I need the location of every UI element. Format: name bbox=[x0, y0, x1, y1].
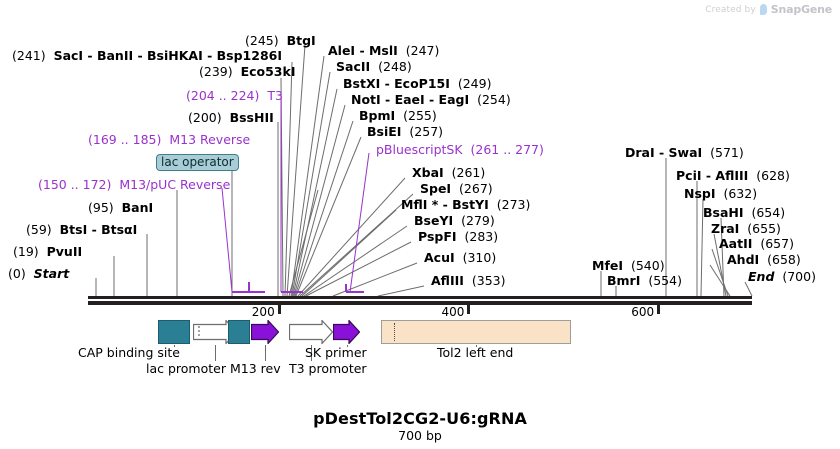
annotation-label[interactable]: BsaHI (654) bbox=[703, 206, 785, 219]
annotation-position: (0) bbox=[8, 266, 26, 281]
annotation-enzymes: BmrI bbox=[607, 273, 640, 288]
annotation-position: (59) bbox=[26, 222, 52, 237]
annotation-label[interactable]: PciI - AflIII (628) bbox=[676, 169, 790, 182]
annotation-enzymes: PspFI bbox=[418, 229, 457, 244]
ruler-tick bbox=[278, 305, 281, 314]
annotation-position: (283) bbox=[464, 229, 498, 244]
annotation-label[interactable]: BstXI - EcoP15I (249) bbox=[343, 77, 491, 90]
annotation-label[interactable]: pBluescriptSK (261 .. 277) bbox=[376, 143, 544, 156]
annotation-enzymes: AleI - MslI bbox=[328, 43, 398, 58]
annotation-position: (241) bbox=[12, 48, 46, 63]
annotation-enzymes: MflI * - BstYI bbox=[401, 197, 489, 212]
annotation-enzymes: pBluescriptSK bbox=[376, 142, 463, 157]
ruler-tick bbox=[657, 305, 660, 314]
annotation-position: (554) bbox=[648, 273, 682, 288]
annotation-enzymes: End bbox=[748, 269, 774, 284]
annotation-position: (273) bbox=[497, 197, 531, 212]
annotation-enzymes: AatII bbox=[719, 236, 752, 251]
feature-label: SK primer bbox=[305, 345, 367, 360]
annotation-label[interactable]: MflI * - BstYI (273) bbox=[401, 198, 530, 211]
annotation-label[interactable]: MfeI (540) bbox=[592, 259, 665, 272]
annotation-enzymes: Eco53kI bbox=[241, 64, 296, 79]
annotation-enzymes: BtgI bbox=[287, 33, 316, 48]
annotation-position: (267) bbox=[459, 181, 493, 196]
page-title: pDestTol2CG2-U6:gRNA bbox=[0, 409, 840, 428]
feature-leader-stem bbox=[347, 345, 348, 347]
annotation-enzymes: AflIII bbox=[431, 273, 464, 288]
annotation-enzymes: BsaHI bbox=[703, 205, 744, 220]
feature-leader-stem bbox=[265, 345, 266, 361]
annotation-label[interactable]: AflIII (353) bbox=[431, 274, 505, 287]
annotation-position: (200) bbox=[188, 110, 222, 125]
annotation-position: (204 .. 224) bbox=[186, 88, 259, 103]
annotation-enzymes: AhdI bbox=[727, 252, 759, 267]
annotation-enzymes: BsiEI bbox=[367, 124, 401, 139]
annotation-position: (632) bbox=[723, 186, 757, 201]
feature-leader-stem bbox=[174, 345, 175, 347]
feature-tol2-left-end[interactable] bbox=[381, 320, 571, 344]
annotation-label[interactable]: AcuI (310) bbox=[424, 251, 496, 264]
annotation-position: (279) bbox=[461, 213, 495, 228]
annotation-label[interactable]: (245) BtgI bbox=[245, 34, 316, 47]
annotation-enzymes: NotI - EaeI - EagI bbox=[351, 92, 469, 107]
feature-t3-promoter[interactable] bbox=[289, 320, 333, 344]
annotation-label[interactable]: (95) BanI bbox=[88, 201, 153, 214]
annotation-enzymes: Start bbox=[34, 266, 70, 281]
annotation-position: (353) bbox=[472, 273, 506, 288]
annotation-enzymes: ZraI bbox=[711, 221, 739, 236]
annotation-enzymes: PciI - AflIII bbox=[676, 168, 748, 183]
annotation-position: (150 .. 172) bbox=[38, 177, 111, 192]
annotation-enzymes: SpeI bbox=[420, 181, 451, 196]
annotation-position: (658) bbox=[767, 252, 801, 267]
watermark-brand: SnapGene bbox=[771, 3, 832, 16]
annotation-label[interactable]: DraI - SwaI (571) bbox=[625, 146, 744, 159]
annotation-enzymes: AcuI bbox=[424, 250, 455, 265]
annotation-enzymes: BpmI bbox=[359, 108, 395, 123]
annotation-enzymes: lac operator bbox=[161, 155, 234, 169]
annotation-label[interactable]: (241) SacI - BanII - BsiHKAI - Bsp1286I bbox=[12, 49, 282, 62]
annotation-label[interactable]: End (700) bbox=[748, 270, 816, 283]
annotation-label[interactable]: NspI (632) bbox=[684, 187, 757, 200]
annotation-enzymes: SacII bbox=[336, 59, 370, 74]
annotation-position: (310) bbox=[463, 250, 497, 265]
snapgene-watermark: Created by SnapGene bbox=[705, 3, 832, 16]
annotation-position: (261 .. 277) bbox=[471, 142, 544, 157]
annotation-enzymes: BseYI bbox=[414, 213, 453, 228]
annotation-label[interactable]: (239) Eco53kI bbox=[199, 65, 295, 78]
annotation-position: (239) bbox=[199, 64, 233, 79]
annotation-label[interactable]: BseYI (279) bbox=[414, 214, 495, 227]
annotation-enzymes: NspI bbox=[684, 186, 716, 201]
annotation-position: (254) bbox=[477, 92, 511, 107]
annotation-label[interactable]: XbaI (261) bbox=[412, 166, 485, 179]
plasmid-map: Created by SnapGene bbox=[0, 0, 840, 449]
annotation-label[interactable]: (59) BtsI - BtsαI bbox=[26, 223, 137, 236]
annotation-label[interactable]: AleI - MslI (247) bbox=[328, 44, 439, 57]
annotation-label[interactable]: lac operator bbox=[156, 154, 239, 171]
annotation-position: (19) bbox=[13, 244, 39, 259]
annotation-label[interactable]: PspFI (283) bbox=[418, 230, 498, 243]
annotation-label[interactable]: (204 .. 224) T3 bbox=[186, 89, 283, 102]
feature-cap-binding-site[interactable] bbox=[158, 320, 190, 344]
feature-lac-operator[interactable] bbox=[228, 320, 250, 344]
annotation-label[interactable]: BmrI (554) bbox=[607, 274, 682, 287]
annotation-position: (700) bbox=[782, 269, 816, 284]
annotation-enzymes: DraI - SwaI bbox=[625, 145, 702, 160]
annotation-enzymes: BstXI - EcoP15I bbox=[343, 76, 450, 91]
sequence-length: 700 bp bbox=[0, 428, 840, 443]
annotation-position: (95) bbox=[88, 200, 114, 215]
annotation-enzymes: BanI bbox=[122, 200, 154, 215]
feature-sk-primer[interactable] bbox=[333, 320, 360, 344]
feature-m13-rev[interactable] bbox=[251, 320, 279, 344]
feature-label: CAP binding site bbox=[78, 345, 180, 360]
ruler-tick-label: 400 bbox=[442, 305, 467, 319]
annotation-position: (261) bbox=[452, 165, 486, 180]
annotation-enzymes: M13/pUC Reverse bbox=[119, 177, 230, 192]
annotation-position: (540) bbox=[631, 258, 665, 273]
annotation-enzymes: PvuII bbox=[47, 244, 83, 259]
ruler-tick-label: 600 bbox=[631, 305, 656, 319]
feature-label: M13 rev bbox=[230, 361, 281, 376]
annotation-position: (628) bbox=[756, 168, 790, 183]
annotation-label[interactable]: (200) BssHII bbox=[188, 111, 274, 124]
annotation-label[interactable]: BpmI (255) bbox=[359, 109, 437, 122]
annotation-position: (655) bbox=[747, 221, 781, 236]
dna-backbone-upper bbox=[88, 296, 752, 299]
annotation-label[interactable]: AhdI (658) bbox=[727, 253, 801, 266]
annotation-position: (255) bbox=[403, 108, 437, 123]
annotation-label[interactable]: NotI - EaeI - EagI (254) bbox=[351, 93, 511, 106]
feature-leader-stem bbox=[215, 345, 216, 361]
annotation-position: (245) bbox=[245, 33, 279, 48]
annotation-label[interactable]: ZraI (655) bbox=[711, 222, 781, 235]
annotation-position: (169 .. 185) bbox=[88, 132, 161, 147]
annotation-label[interactable]: BsiEI (257) bbox=[367, 125, 443, 138]
feature-label: lac promoter bbox=[146, 361, 226, 376]
annotation-enzymes: T3 bbox=[267, 88, 283, 103]
annotation-position: (657) bbox=[760, 236, 794, 251]
annotation-enzymes: XbaI bbox=[412, 165, 444, 180]
annotation-enzymes: BssHII bbox=[230, 110, 274, 125]
annotation-position: (257) bbox=[409, 124, 443, 139]
feature-label: T3 promoter bbox=[289, 361, 367, 376]
annotation-enzymes: M13 Reverse bbox=[169, 132, 250, 147]
ruler-tick-label: 200 bbox=[252, 305, 277, 319]
annotation-label[interactable]: AatII (657) bbox=[719, 237, 794, 250]
annotation-position: (654) bbox=[751, 205, 785, 220]
annotation-label[interactable]: SpeI (267) bbox=[420, 182, 493, 195]
annotation-position: (247) bbox=[406, 43, 440, 58]
annotation-label[interactable]: (169 .. 185) M13 Reverse bbox=[88, 133, 250, 146]
annotation-position: (571) bbox=[710, 145, 744, 160]
ruler-tick bbox=[467, 305, 470, 314]
annotation-label[interactable]: (19) PvuII bbox=[13, 245, 82, 258]
annotation-label[interactable]: (0) Start bbox=[8, 267, 69, 280]
annotation-enzymes: MfeI bbox=[592, 258, 623, 273]
annotation-label[interactable]: SacII (248) bbox=[336, 60, 412, 73]
annotation-position: (248) bbox=[378, 59, 412, 74]
snapgene-leaf-icon bbox=[760, 4, 767, 15]
feature-dotted-divider bbox=[394, 323, 395, 341]
annotation-position: (249) bbox=[458, 76, 492, 91]
watermark-prefix: Created by bbox=[705, 5, 756, 15]
annotation-enzymes: BtsI - BtsαI bbox=[60, 222, 138, 237]
feature-leader-stem bbox=[476, 345, 477, 347]
annotation-label[interactable]: (150 .. 172) M13/pUC Reverse bbox=[38, 178, 230, 191]
feature-label: Tol2 left end bbox=[437, 345, 513, 360]
annotation-enzymes: SacI - BanII - BsiHKAI - Bsp1286I bbox=[54, 48, 282, 63]
